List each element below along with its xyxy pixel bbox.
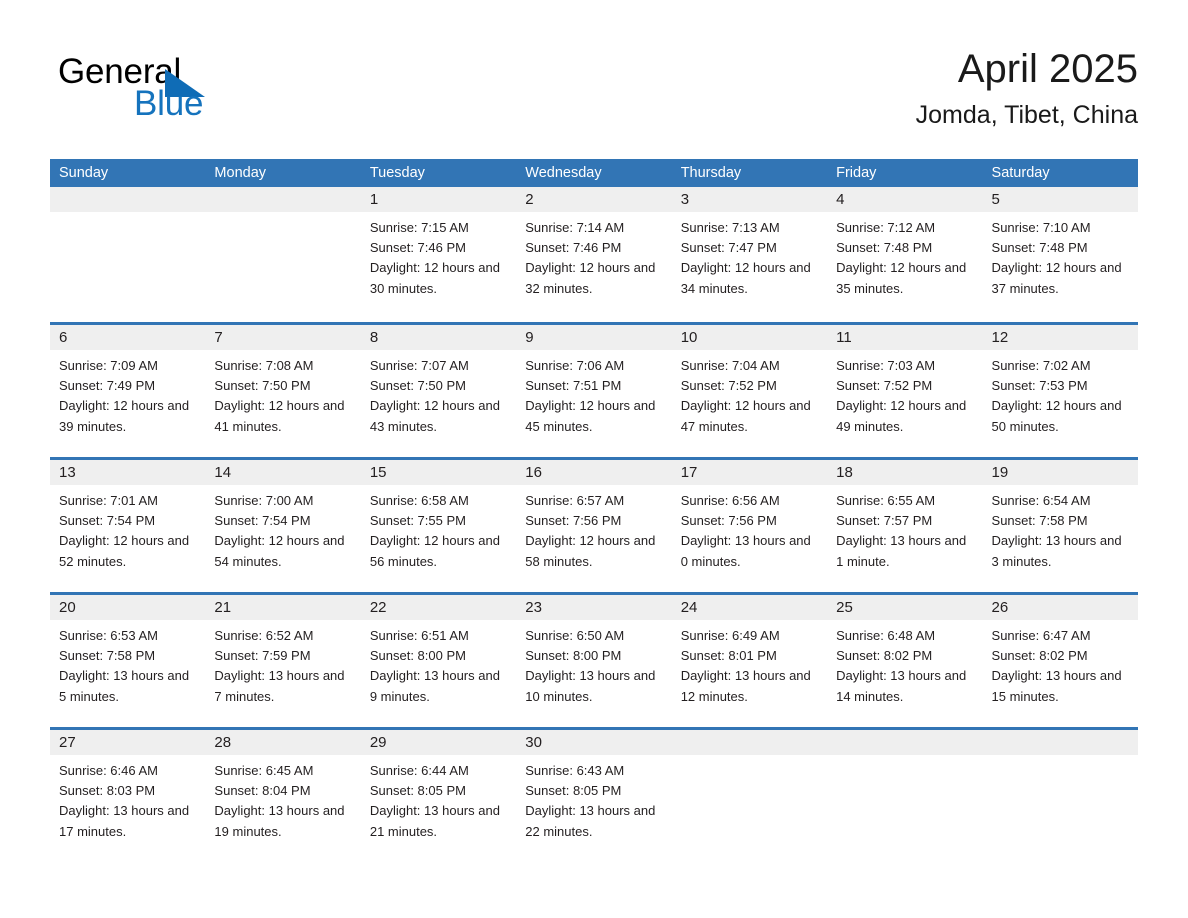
day-cell[interactable]: Sunrise: 6:55 AM Sunset: 7:57 PM Dayligh… (827, 485, 982, 572)
sunset-text: Sunset: 7:46 PM (525, 238, 661, 258)
weekday-header-saturday: Saturday (983, 159, 1138, 187)
day-number[interactable]: 21 (205, 595, 360, 620)
daylight-text: Daylight: 12 hours and 39 minutes. (59, 396, 195, 436)
day-cell[interactable] (50, 212, 205, 299)
day-cell[interactable]: Sunrise: 7:00 AM Sunset: 7:54 PM Dayligh… (205, 485, 360, 572)
sunset-text: Sunset: 7:57 PM (836, 511, 972, 531)
sunrise-text: Sunrise: 7:02 AM (992, 356, 1128, 376)
sunset-text: Sunset: 7:54 PM (214, 511, 350, 531)
sunrise-text: Sunrise: 6:53 AM (59, 626, 195, 646)
daylight-text: Daylight: 13 hours and 5 minutes. (59, 666, 195, 706)
day-number[interactable]: 19 (983, 460, 1138, 485)
daylight-text: Daylight: 13 hours and 1 minute. (836, 531, 972, 571)
daylight-text: Daylight: 13 hours and 0 minutes. (681, 531, 817, 571)
sunset-text: Sunset: 7:59 PM (214, 646, 350, 666)
weekday-header-thursday: Thursday (672, 159, 827, 187)
daylight-text: Daylight: 12 hours and 45 minutes. (525, 396, 661, 436)
sunset-text: Sunset: 7:51 PM (525, 376, 661, 396)
sunrise-text: Sunrise: 6:52 AM (214, 626, 350, 646)
daylight-text: Daylight: 13 hours and 10 minutes. (525, 666, 661, 706)
sunrise-text: Sunrise: 6:48 AM (836, 626, 972, 646)
day-number[interactable]: 15 (361, 460, 516, 485)
sunset-text: Sunset: 8:00 PM (370, 646, 506, 666)
sunrise-text: Sunrise: 7:01 AM (59, 491, 195, 511)
week-date-band: 6 7 8 9 10 11 12 (50, 325, 1138, 350)
weekday-header-monday: Monday (205, 159, 360, 187)
sunrise-text: Sunrise: 6:50 AM (525, 626, 661, 646)
daylight-text: Daylight: 13 hours and 15 minutes. (992, 666, 1128, 706)
weekday-header-tuesday: Tuesday (361, 159, 516, 187)
day-cell[interactable]: Sunrise: 6:48 AM Sunset: 8:02 PM Dayligh… (827, 620, 982, 707)
daylight-text: Daylight: 12 hours and 47 minutes. (681, 396, 817, 436)
sunset-text: Sunset: 8:02 PM (836, 646, 972, 666)
week-date-band: 1 2 3 4 5 (50, 187, 1138, 212)
daylight-text: Daylight: 13 hours and 14 minutes. (836, 666, 972, 706)
day-number[interactable] (983, 730, 1138, 755)
day-cell[interactable]: Sunrise: 7:08 AM Sunset: 7:50 PM Dayligh… (205, 350, 360, 437)
sunset-text: Sunset: 8:00 PM (525, 646, 661, 666)
daylight-text: Daylight: 12 hours and 41 minutes. (214, 396, 350, 436)
day-number[interactable]: 4 (827, 187, 982, 212)
week-detail-band: Sunrise: 6:46 AM Sunset: 8:03 PM Dayligh… (50, 755, 1138, 842)
week-detail-band: Sunrise: 7:09 AM Sunset: 7:49 PM Dayligh… (50, 350, 1138, 437)
sunrise-text: Sunrise: 6:47 AM (992, 626, 1128, 646)
sunset-text: Sunset: 8:04 PM (214, 781, 350, 801)
sunrise-text: Sunrise: 6:43 AM (525, 761, 661, 781)
day-number[interactable]: 23 (516, 595, 671, 620)
sunrise-text: Sunrise: 7:12 AM (836, 218, 972, 238)
day-cell[interactable]: Sunrise: 7:12 AM Sunset: 7:48 PM Dayligh… (827, 212, 982, 299)
sunrise-text: Sunrise: 7:04 AM (681, 356, 817, 376)
sunset-text: Sunset: 8:05 PM (525, 781, 661, 801)
day-number[interactable]: 7 (205, 325, 360, 350)
day-number[interactable]: 14 (205, 460, 360, 485)
sunrise-text: Sunrise: 7:13 AM (681, 218, 817, 238)
day-cell[interactable]: Sunrise: 7:13 AM Sunset: 7:47 PM Dayligh… (672, 212, 827, 299)
day-cell[interactable]: Sunrise: 7:04 AM Sunset: 7:52 PM Dayligh… (672, 350, 827, 437)
daylight-text: Daylight: 13 hours and 22 minutes. (525, 801, 661, 841)
sunset-text: Sunset: 7:56 PM (681, 511, 817, 531)
sunrise-text: Sunrise: 7:08 AM (214, 356, 350, 376)
day-number[interactable]: 26 (983, 595, 1138, 620)
sunrise-text: Sunrise: 6:54 AM (992, 491, 1128, 511)
daylight-text: Daylight: 13 hours and 21 minutes. (370, 801, 506, 841)
day-number[interactable]: 27 (50, 730, 205, 755)
day-cell[interactable]: Sunrise: 6:43 AM Sunset: 8:05 PM Dayligh… (516, 755, 671, 842)
daylight-text: Daylight: 12 hours and 43 minutes. (370, 396, 506, 436)
week-date-band: 13 14 15 16 17 18 19 (50, 460, 1138, 485)
day-cell[interactable]: Sunrise: 6:44 AM Sunset: 8:05 PM Dayligh… (361, 755, 516, 842)
day-number[interactable]: 24 (672, 595, 827, 620)
sunrise-text: Sunrise: 6:46 AM (59, 761, 195, 781)
day-cell[interactable]: Sunrise: 6:57 AM Sunset: 7:56 PM Dayligh… (516, 485, 671, 572)
day-number[interactable]: 16 (516, 460, 671, 485)
sunset-text: Sunset: 7:48 PM (992, 238, 1128, 258)
week-detail-band: Sunrise: 7:01 AM Sunset: 7:54 PM Dayligh… (50, 485, 1138, 572)
week-detail-band: Sunrise: 6:53 AM Sunset: 7:58 PM Dayligh… (50, 620, 1138, 707)
sunset-text: Sunset: 7:58 PM (992, 511, 1128, 531)
sunrise-text: Sunrise: 7:15 AM (370, 218, 506, 238)
sunset-text: Sunset: 7:58 PM (59, 646, 195, 666)
day-cell[interactable]: Sunrise: 6:49 AM Sunset: 8:01 PM Dayligh… (672, 620, 827, 707)
day-cell[interactable]: Sunrise: 6:46 AM Sunset: 8:03 PM Dayligh… (50, 755, 205, 842)
sunset-text: Sunset: 8:03 PM (59, 781, 195, 801)
sunset-text: Sunset: 7:56 PM (525, 511, 661, 531)
day-cell[interactable]: Sunrise: 7:07 AM Sunset: 7:50 PM Dayligh… (361, 350, 516, 437)
sunrise-text: Sunrise: 6:49 AM (681, 626, 817, 646)
day-number[interactable]: 28 (205, 730, 360, 755)
sunrise-text: Sunrise: 7:14 AM (525, 218, 661, 238)
sunset-text: Sunset: 7:53 PM (992, 376, 1128, 396)
week-detail-band: Sunrise: 7:15 AM Sunset: 7:46 PM Dayligh… (50, 212, 1138, 299)
day-cell[interactable]: Sunrise: 7:10 AM Sunset: 7:48 PM Dayligh… (983, 212, 1138, 299)
day-number[interactable]: 17 (672, 460, 827, 485)
day-cell[interactable] (983, 755, 1138, 842)
daylight-text: Daylight: 13 hours and 19 minutes. (214, 801, 350, 841)
day-cell[interactable]: Sunrise: 6:56 AM Sunset: 7:56 PM Dayligh… (672, 485, 827, 572)
sunset-text: Sunset: 7:52 PM (836, 376, 972, 396)
calendar-week-row: 27 28 29 30 Sunrise: 6:46 AM Sunset: 8:0… (50, 727, 1138, 849)
general-blue-logo: General Blue (58, 52, 318, 132)
weekday-header-wednesday: Wednesday (516, 159, 671, 187)
sunset-text: Sunset: 7:54 PM (59, 511, 195, 531)
day-cell[interactable]: Sunrise: 6:58 AM Sunset: 7:55 PM Dayligh… (361, 485, 516, 572)
sunset-text: Sunset: 7:48 PM (836, 238, 972, 258)
sunset-text: Sunset: 7:50 PM (214, 376, 350, 396)
day-cell[interactable]: Sunrise: 7:09 AM Sunset: 7:49 PM Dayligh… (50, 350, 205, 437)
weekday-header-row: Sunday Monday Tuesday Wednesday Thursday… (50, 159, 1138, 187)
day-number[interactable]: 18 (827, 460, 982, 485)
sunset-text: Sunset: 8:05 PM (370, 781, 506, 801)
daylight-text: Daylight: 12 hours and 58 minutes. (525, 531, 661, 571)
day-cell[interactable]: Sunrise: 6:50 AM Sunset: 8:00 PM Dayligh… (516, 620, 671, 707)
page-title: April 2025 (916, 44, 1138, 94)
day-cell[interactable]: Sunrise: 7:06 AM Sunset: 7:51 PM Dayligh… (516, 350, 671, 437)
daylight-text: Daylight: 13 hours and 9 minutes. (370, 666, 506, 706)
day-cell[interactable]: Sunrise: 7:14 AM Sunset: 7:46 PM Dayligh… (516, 212, 671, 299)
daylight-text: Daylight: 12 hours and 54 minutes. (214, 531, 350, 571)
sunrise-text: Sunrise: 6:55 AM (836, 491, 972, 511)
daylight-text: Daylight: 12 hours and 32 minutes. (525, 258, 661, 298)
sunset-text: Sunset: 7:50 PM (370, 376, 506, 396)
day-number[interactable]: 22 (361, 595, 516, 620)
day-number[interactable]: 5 (983, 187, 1138, 212)
day-number[interactable]: 25 (827, 595, 982, 620)
daylight-text: Daylight: 12 hours and 37 minutes. (992, 258, 1128, 298)
sunrise-text: Sunrise: 6:56 AM (681, 491, 817, 511)
daylight-text: Daylight: 13 hours and 7 minutes. (214, 666, 350, 706)
daylight-text: Daylight: 13 hours and 3 minutes. (992, 531, 1128, 571)
day-cell[interactable]: Sunrise: 7:03 AM Sunset: 7:52 PM Dayligh… (827, 350, 982, 437)
daylight-text: Daylight: 12 hours and 49 minutes. (836, 396, 972, 436)
day-cell[interactable]: Sunrise: 6:53 AM Sunset: 7:58 PM Dayligh… (50, 620, 205, 707)
daylight-text: Daylight: 12 hours and 56 minutes. (370, 531, 506, 571)
day-number[interactable] (827, 730, 982, 755)
daylight-text: Daylight: 12 hours and 30 minutes. (370, 258, 506, 298)
sunset-text: Sunset: 7:46 PM (370, 238, 506, 258)
sunrise-text: Sunrise: 6:51 AM (370, 626, 506, 646)
sunrise-text: Sunrise: 7:10 AM (992, 218, 1128, 238)
page-header: General Blue April 2025 Jomda, Tibet, Ch… (50, 44, 1138, 144)
calendar-week-row: 13 14 15 16 17 18 19 Sunrise: 7:01 AM Su… (50, 457, 1138, 592)
day-number[interactable] (672, 730, 827, 755)
day-number[interactable]: 11 (827, 325, 982, 350)
sunset-text: Sunset: 8:01 PM (681, 646, 817, 666)
day-cell[interactable]: Sunrise: 6:51 AM Sunset: 8:00 PM Dayligh… (361, 620, 516, 707)
daylight-text: Daylight: 12 hours and 52 minutes. (59, 531, 195, 571)
day-number[interactable]: 13 (50, 460, 205, 485)
day-number[interactable]: 6 (50, 325, 205, 350)
sunrise-text: Sunrise: 7:00 AM (214, 491, 350, 511)
day-cell[interactable]: Sunrise: 6:47 AM Sunset: 8:02 PM Dayligh… (983, 620, 1138, 707)
day-number[interactable] (50, 187, 205, 212)
day-number[interactable]: 10 (672, 325, 827, 350)
daylight-text: Daylight: 12 hours and 50 minutes. (992, 396, 1128, 436)
day-number[interactable]: 3 (672, 187, 827, 212)
sunrise-text: Sunrise: 6:58 AM (370, 491, 506, 511)
day-number[interactable]: 30 (516, 730, 671, 755)
sunrise-text: Sunrise: 7:09 AM (59, 356, 195, 376)
sunrise-text: Sunrise: 7:06 AM (525, 356, 661, 376)
sunrise-text: Sunrise: 6:45 AM (214, 761, 350, 781)
sunset-text: Sunset: 7:52 PM (681, 376, 817, 396)
day-number[interactable]: 8 (361, 325, 516, 350)
day-number[interactable]: 2 (516, 187, 671, 212)
day-cell[interactable]: Sunrise: 6:52 AM Sunset: 7:59 PM Dayligh… (205, 620, 360, 707)
day-cell[interactable]: Sunrise: 7:01 AM Sunset: 7:54 PM Dayligh… (50, 485, 205, 572)
sunset-text: Sunset: 7:55 PM (370, 511, 506, 531)
weekday-header-friday: Friday (827, 159, 982, 187)
daylight-text: Daylight: 12 hours and 35 minutes. (836, 258, 972, 298)
sunset-text: Sunset: 8:02 PM (992, 646, 1128, 666)
day-cell[interactable] (827, 755, 982, 842)
daylight-text: Daylight: 13 hours and 17 minutes. (59, 801, 195, 841)
sunrise-text: Sunrise: 6:44 AM (370, 761, 506, 781)
calendar-grid: Sunday Monday Tuesday Wednesday Thursday… (50, 159, 1138, 849)
week-date-band: 20 21 22 23 24 25 26 (50, 595, 1138, 620)
calendar-week-row: 20 21 22 23 24 25 26 Sunrise: 6:53 AM Su… (50, 592, 1138, 727)
day-number[interactable]: 9 (516, 325, 671, 350)
day-number[interactable]: 1 (361, 187, 516, 212)
location-subtitle: Jomda, Tibet, China (916, 101, 1138, 130)
day-number[interactable]: 29 (361, 730, 516, 755)
daylight-text: Daylight: 13 hours and 12 minutes. (681, 666, 817, 706)
daylight-text: Daylight: 12 hours and 34 minutes. (681, 258, 817, 298)
day-cell[interactable] (205, 212, 360, 299)
day-cell[interactable] (672, 755, 827, 842)
calendar-page: General Blue April 2025 Jomda, Tibet, Ch… (0, 0, 1188, 918)
day-cell[interactable]: Sunrise: 6:45 AM Sunset: 8:04 PM Dayligh… (205, 755, 360, 842)
sunset-text: Sunset: 7:49 PM (59, 376, 195, 396)
calendar-week-row: 6 7 8 9 10 11 12 Sunrise: 7:09 AM Sunset… (50, 322, 1138, 457)
day-cell[interactable]: Sunrise: 6:54 AM Sunset: 7:58 PM Dayligh… (983, 485, 1138, 572)
day-number[interactable]: 20 (50, 595, 205, 620)
sunrise-text: Sunrise: 7:07 AM (370, 356, 506, 376)
sunset-text: Sunset: 7:47 PM (681, 238, 817, 258)
sunrise-text: Sunrise: 7:03 AM (836, 356, 972, 376)
week-date-band: 27 28 29 30 (50, 730, 1138, 755)
title-block: April 2025 Jomda, Tibet, China (916, 44, 1138, 130)
weekday-header-sunday: Sunday (50, 159, 205, 187)
day-number[interactable]: 12 (983, 325, 1138, 350)
day-cell[interactable]: Sunrise: 7:02 AM Sunset: 7:53 PM Dayligh… (983, 350, 1138, 437)
day-cell[interactable]: Sunrise: 7:15 AM Sunset: 7:46 PM Dayligh… (361, 212, 516, 299)
logo-blue-text: Blue (134, 84, 203, 124)
calendar-week-row: 1 2 3 4 5 Sunrise: 7:15 AM (50, 187, 1138, 322)
day-number[interactable] (205, 187, 360, 212)
sunrise-text: Sunrise: 6:57 AM (525, 491, 661, 511)
